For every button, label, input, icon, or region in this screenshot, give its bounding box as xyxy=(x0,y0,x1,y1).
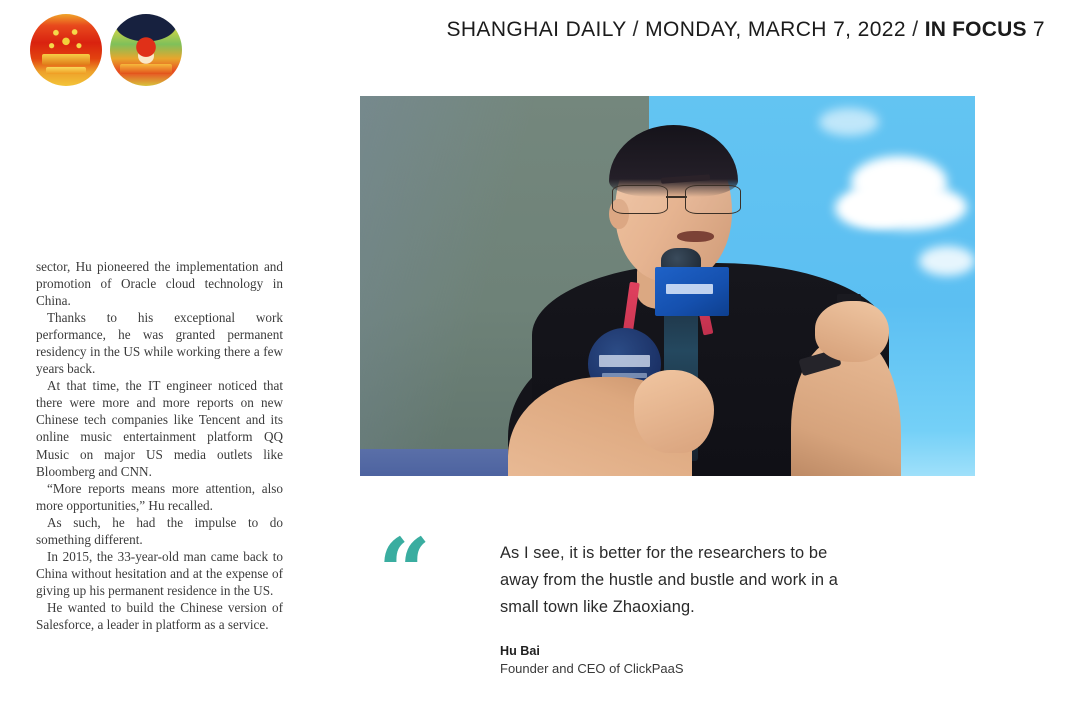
story-paragraph: Thanks to his exceptional work performan… xyxy=(36,309,283,377)
issue-date: MONDAY, MARCH 7, 2022 xyxy=(645,18,906,41)
story-paragraph: As such, he had the impulse to do someth… xyxy=(36,514,283,548)
publication-name: SHANGHAI DAILY xyxy=(446,18,626,41)
section-name: IN FOCUS xyxy=(925,18,1027,41)
pull-quote-line: away from the hustle and bustle and work… xyxy=(500,567,920,594)
attribution-role: Founder and CEO of ClickPaaS xyxy=(500,660,920,678)
microphone-flag xyxy=(655,267,729,316)
hand-left xyxy=(634,370,714,454)
glasses-lens-left xyxy=(612,185,668,214)
attribution-name: Hu Bai xyxy=(500,643,920,660)
glasses-lens-right xyxy=(685,185,741,214)
microphone-flag-logo xyxy=(666,284,713,294)
badge-text-line xyxy=(599,355,651,367)
story-paragraph: sector, Hu pioneered the implementation … xyxy=(36,258,283,309)
glasses-icon xyxy=(612,185,741,212)
masthead-separator-2: / xyxy=(912,18,918,41)
pull-quote-body: As I see, it is better for the researche… xyxy=(500,540,920,678)
masthead-kicker: SHANGHAI DAILY / MONDAY, MARCH 7, 2022 /… xyxy=(446,18,1045,42)
pull-quote-line: small town like Zhaoxiang. xyxy=(500,594,920,621)
cppcc-emblem-icon xyxy=(110,14,182,86)
story-paragraph: In 2015, the 33-year-old man came back t… xyxy=(36,548,283,599)
emblem-group xyxy=(30,14,182,86)
story-column: sector, Hu pioneered the implementation … xyxy=(36,258,283,633)
masthead: SHANGHAI DAILY / MONDAY, MARCH 7, 2022 /… xyxy=(0,0,1079,96)
hand-right xyxy=(815,301,889,362)
newspaper-page: SHANGHAI DAILY / MONDAY, MARCH 7, 2022 /… xyxy=(0,0,1079,717)
story-paragraph: At that time, the IT engineer noticed th… xyxy=(36,377,283,479)
story-paragraph: “More reports means more attention, also… xyxy=(36,480,283,514)
story-paragraph: He wanted to build the Chinese version o… xyxy=(36,599,283,633)
glasses-bridge xyxy=(666,196,687,198)
quotation-mark-icon: “ xyxy=(378,526,427,618)
speaker-figure xyxy=(360,96,975,476)
page-number: 7 xyxy=(1033,18,1045,41)
masthead-separator-1: / xyxy=(633,18,639,41)
npc-emblem-icon xyxy=(30,14,102,86)
speaker-photo xyxy=(360,96,975,476)
mouth xyxy=(677,231,714,242)
pull-quote-line: As I see, it is better for the researche… xyxy=(500,540,920,567)
pull-quote-attribution: Hu Bai Founder and CEO of ClickPaaS xyxy=(500,643,920,678)
